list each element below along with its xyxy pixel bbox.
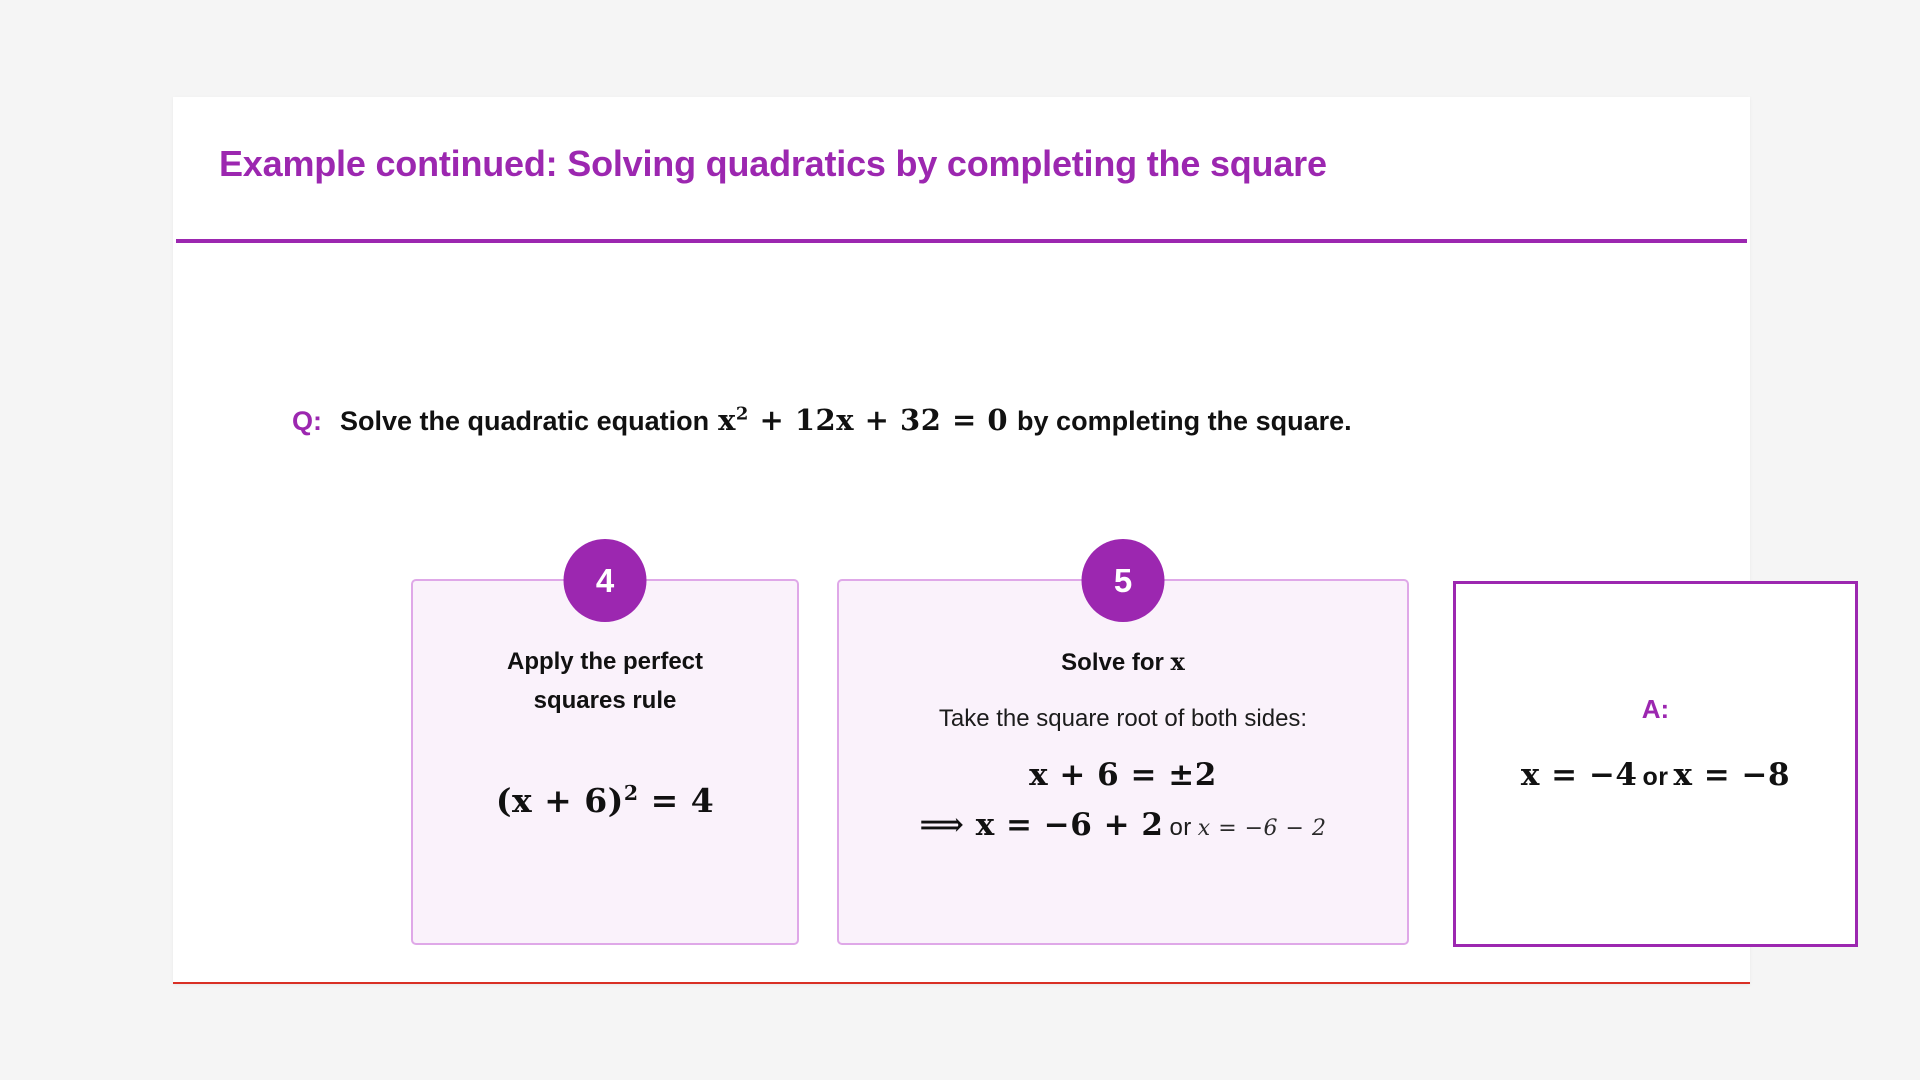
answer-or-word: or [1643, 763, 1669, 791]
step-card-5: 5 Solve for x Take the square root of bo… [837, 579, 1409, 945]
answer-equation-right: x = −8 [1674, 757, 1791, 793]
step-card-5-equation-second-tail: x = −6 − 2 [1198, 816, 1327, 841]
step-card-5-equation-second-or: or [1169, 814, 1191, 841]
answer-inner: A: x = −4orx = −8 [1456, 694, 1855, 793]
page-title: Example continued: Solving quadratics by… [219, 143, 1327, 185]
step-card-4-body: Apply the perfect squares rule (x + 6)2 … [413, 643, 797, 820]
step-card-5-heading-prefix: Solve for [1061, 649, 1164, 676]
answer-label: A: [1456, 694, 1855, 725]
answer-equation: x = −4orx = −8 [1456, 757, 1855, 793]
step-card-4-equation-exponent: 2 [624, 781, 639, 805]
step-card-4-equation-base: (x + 6) [496, 781, 624, 820]
question-equation: x2 + 12x + 32 = 0 [718, 403, 1008, 437]
question-equation-exponent: 2 [736, 403, 749, 424]
title-divider [176, 239, 1747, 243]
step-card-4-equation-rest: = 4 [651, 781, 715, 820]
step-card-4: 4 Apply the perfect squares rule (x + 6)… [411, 579, 799, 945]
step-card-4-heading-line-1: Apply the perfect [427, 643, 783, 682]
question-equation-base: x [718, 403, 736, 437]
step-card-4-heading-line-2: squares rule [427, 682, 783, 721]
slide-card: Example continued: Solving quadratics by… [173, 97, 1750, 984]
question-text-after: by completing the square. [1017, 406, 1352, 437]
step-card-5-equation-second-lead: ⟹ x = −6 + 2 [920, 807, 1164, 843]
step-badge-4: 4 [564, 539, 647, 622]
question-label: Q: [292, 406, 322, 437]
step-card-5-body: Solve for x Take the square root of both… [839, 643, 1407, 843]
step-card-5-equation-main: x + 6 = ±2 [853, 757, 1393, 793]
question-row: Q: Solve the quadratic equation x2 + 12x… [292, 403, 1352, 437]
step-card-4-equation: (x + 6)2 = 4 [427, 781, 783, 820]
step-card-5-note: Take the square root of both sides: [853, 701, 1393, 737]
step-card-5-heading: Solve for x [853, 643, 1393, 683]
question-text-before: Solve the quadratic equation [340, 406, 709, 437]
step-badge-5: 5 [1082, 539, 1165, 622]
question-equation-rest: + 12x + 32 = 0 [759, 403, 1008, 437]
step-card-5-heading-variable: x [1171, 647, 1185, 676]
answer-equation-left: x = −4 [1521, 757, 1638, 793]
step-card-5-equation-second: ⟹ x = −6 + 2orx = −6 − 2 [853, 807, 1393, 843]
answer-box: A: x = −4orx = −8 [1453, 581, 1858, 947]
step-card-4-heading: Apply the perfect squares rule [427, 643, 783, 721]
